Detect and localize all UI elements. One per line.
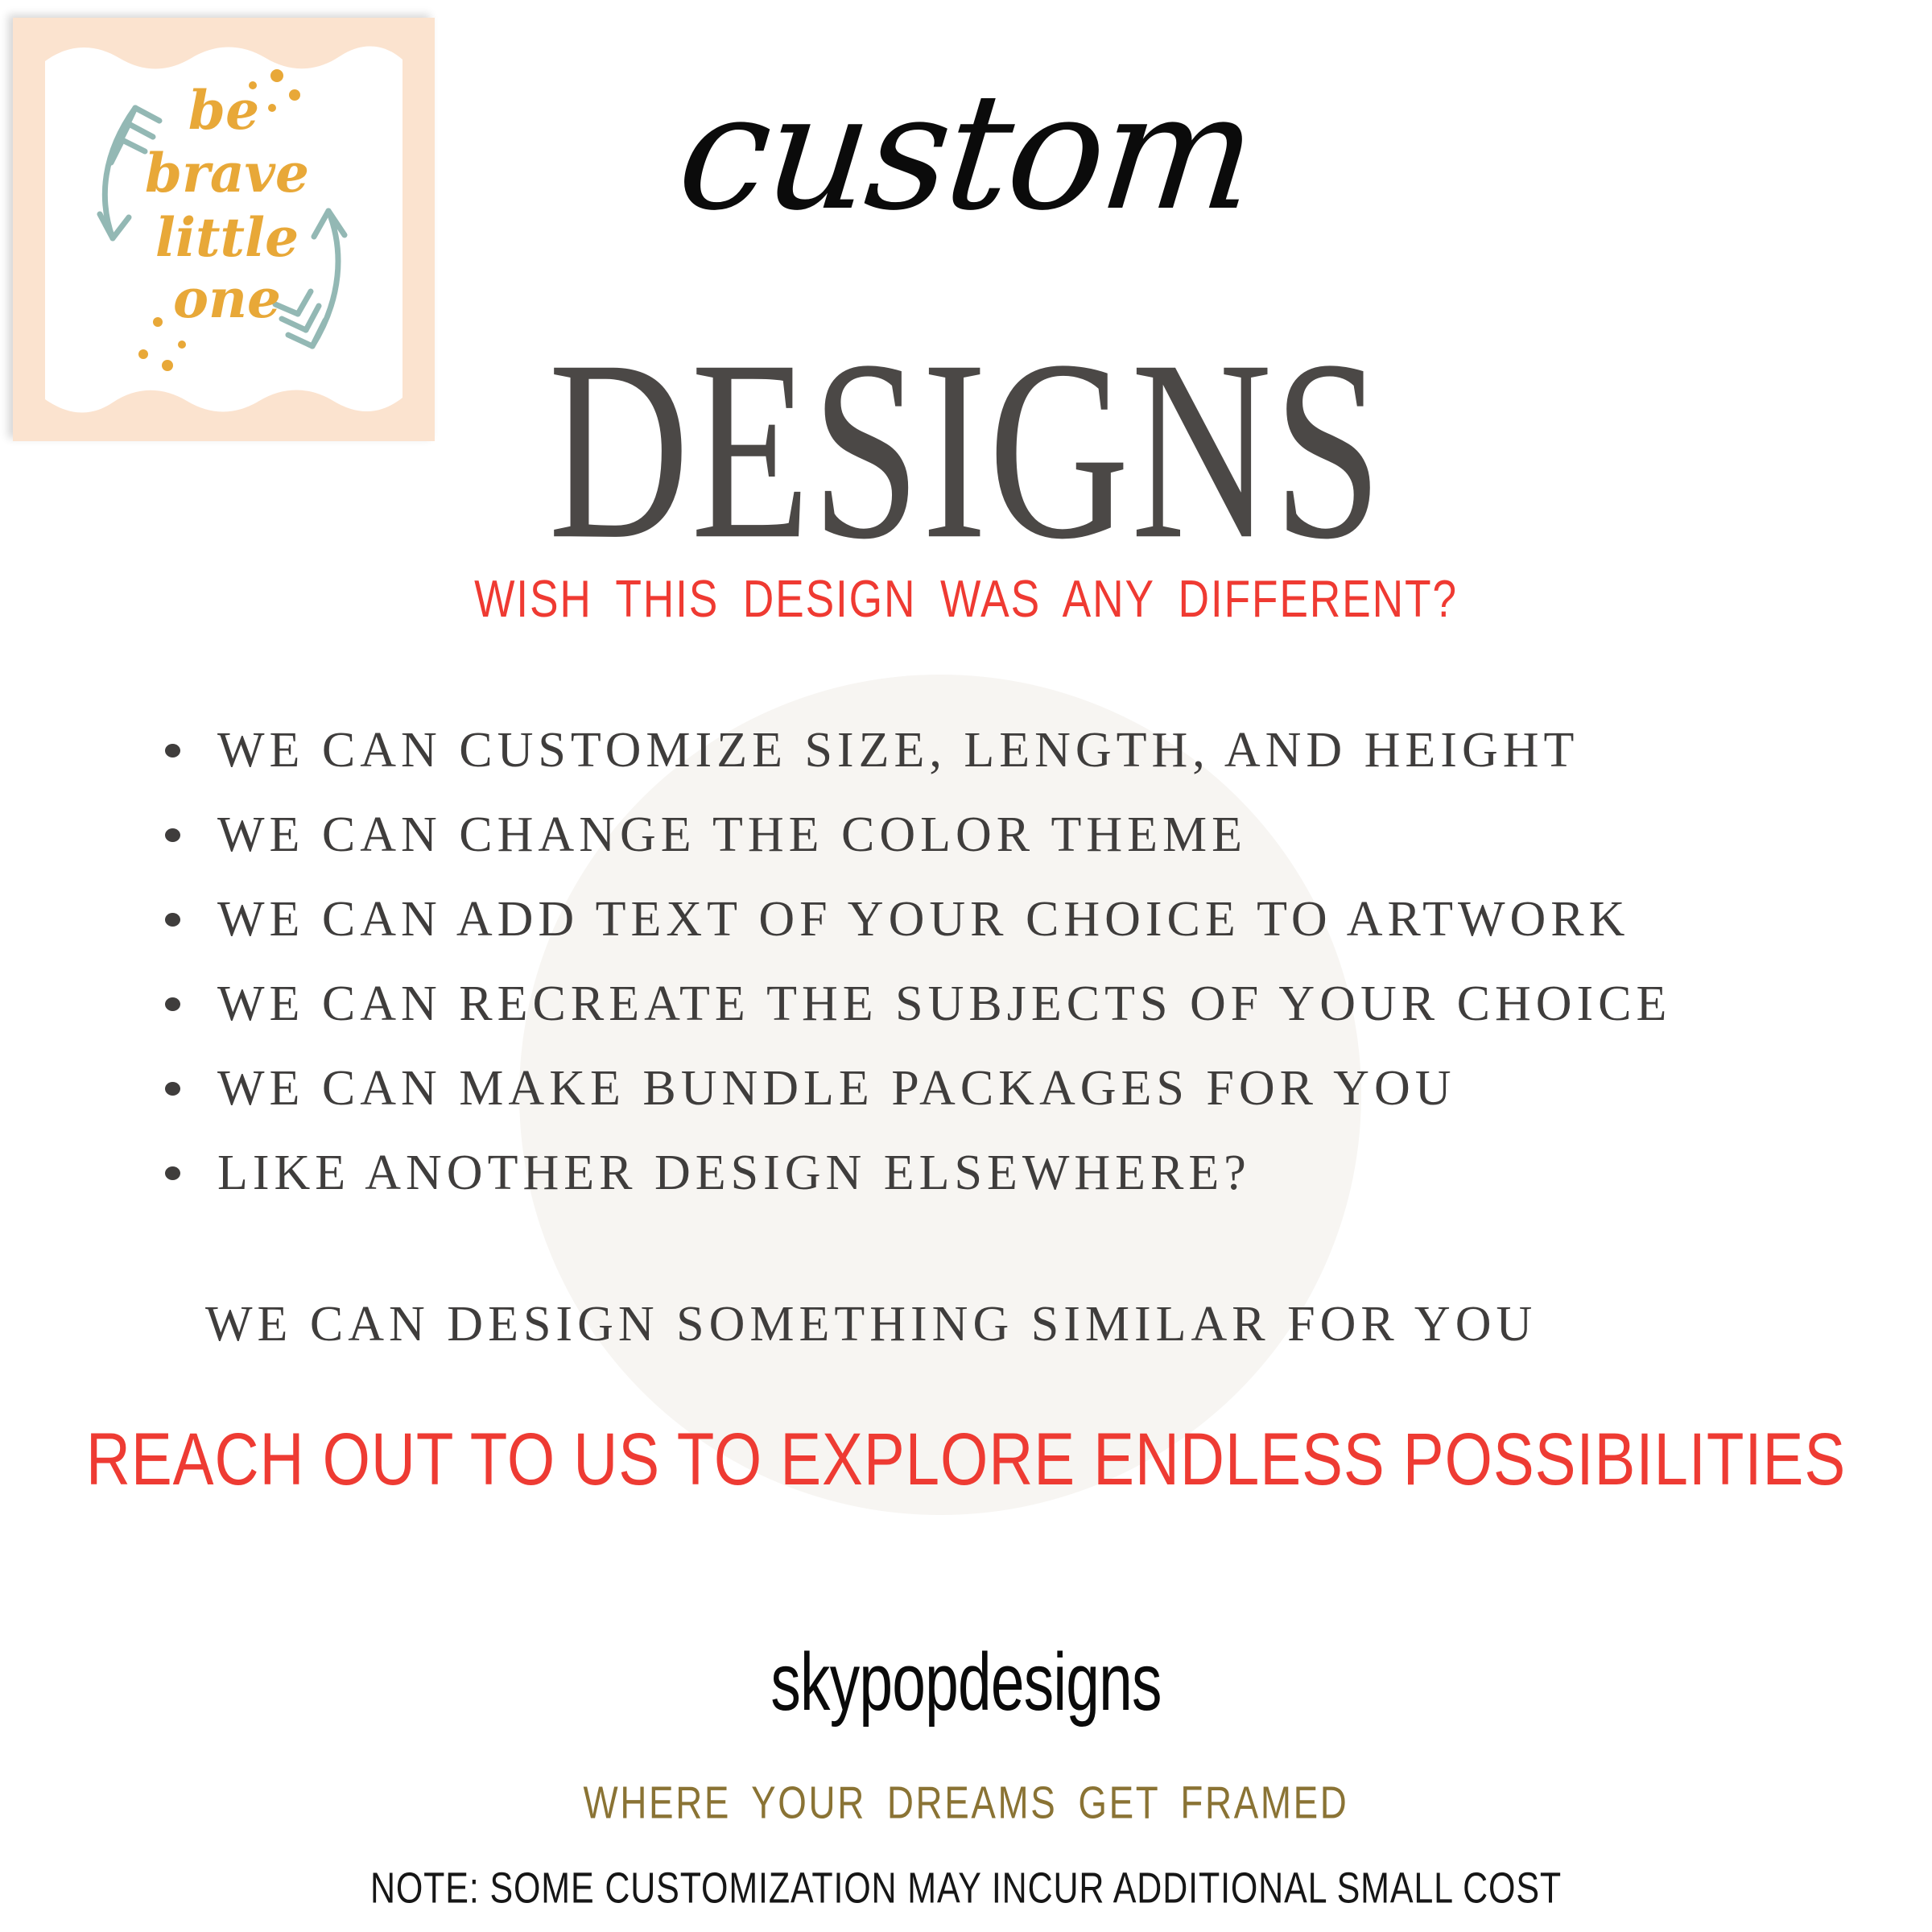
svg-text:brave: brave: [145, 142, 309, 204]
list-item-label: WE CAN ADD TEXT OF YOUR CHOICE TO ARTWOR…: [217, 892, 1629, 947]
brand-tagline: WHERE YOUR DREAMS GET FRAMED: [116, 1781, 1816, 1826]
bullet-dot-icon: [165, 997, 180, 1011]
artwork-illustration: be brave little one: [45, 40, 402, 419]
svg-text:little: little: [155, 206, 299, 269]
list-item-label: WE CAN RECREATE THE SUBJECTS OF YOUR CHO…: [217, 976, 1671, 1031]
list-item-label: WE CAN CUSTOMIZE SIZE, LENGTH, AND HEIGH…: [217, 723, 1579, 778]
list-item: WE CAN CUSTOMIZE SIZE, LENGTH, AND HEIGH…: [0, 708, 1932, 793]
svg-text:be: be: [188, 79, 259, 142]
list-item: WE CAN ADD TEXT OF YOUR CHOICE TO ARTWOR…: [0, 877, 1932, 962]
benefits-list: WE CAN CUSTOMIZE SIZE, LENGTH, AND HEIGH…: [0, 708, 1932, 1216]
footer-note: NOTE: SOME CUSTOMIZATION MAY INCUR ADDIT…: [135, 1866, 1797, 1909]
bullet-dot-icon: [165, 828, 180, 842]
list-item-continuation: WE CAN DESIGN SOMETHING SIMILAR FOR YOU: [205, 1282, 1537, 1367]
list-item: WE CAN CHANGE THE COLOR THEME: [0, 793, 1932, 877]
bullet-dot-icon: [165, 744, 180, 758]
cta-text: REACH OUT TO US TO EXPLORE ENDLESS POSSI…: [68, 1423, 1864, 1497]
subtitle-question: WISH THIS DESIGN WAS ANY DIFFERENT?: [77, 573, 1855, 625]
bullet-dot-icon: [165, 1082, 180, 1096]
list-item: WE CAN MAKE BUNDLE PACKAGES FOR YOU: [0, 1046, 1932, 1131]
bullet-dot-icon: [165, 913, 180, 927]
list-item-label: WE CAN CHANGE THE COLOR THEME: [217, 807, 1247, 862]
brand-name: skypopdesigns: [213, 1642, 1719, 1724]
svg-text:one: one: [173, 267, 281, 330]
bullet-dot-icon: [165, 1166, 180, 1180]
list-item: LIKE ANOTHER DESIGN ELSEWHERE?: [0, 1131, 1932, 1216]
artwork-wavy-mat: be brave little one: [45, 40, 402, 419]
list-item-label: WE CAN MAKE BUNDLE PACKAGES FOR YOU: [217, 1061, 1456, 1116]
list-item-label: LIKE ANOTHER DESIGN ELSEWHERE?: [217, 1146, 1251, 1200]
artwork-thumbnail: be brave little one: [13, 18, 435, 441]
list-item: WE CAN RECREATE THE SUBJECTS OF YOUR CHO…: [0, 962, 1932, 1046]
